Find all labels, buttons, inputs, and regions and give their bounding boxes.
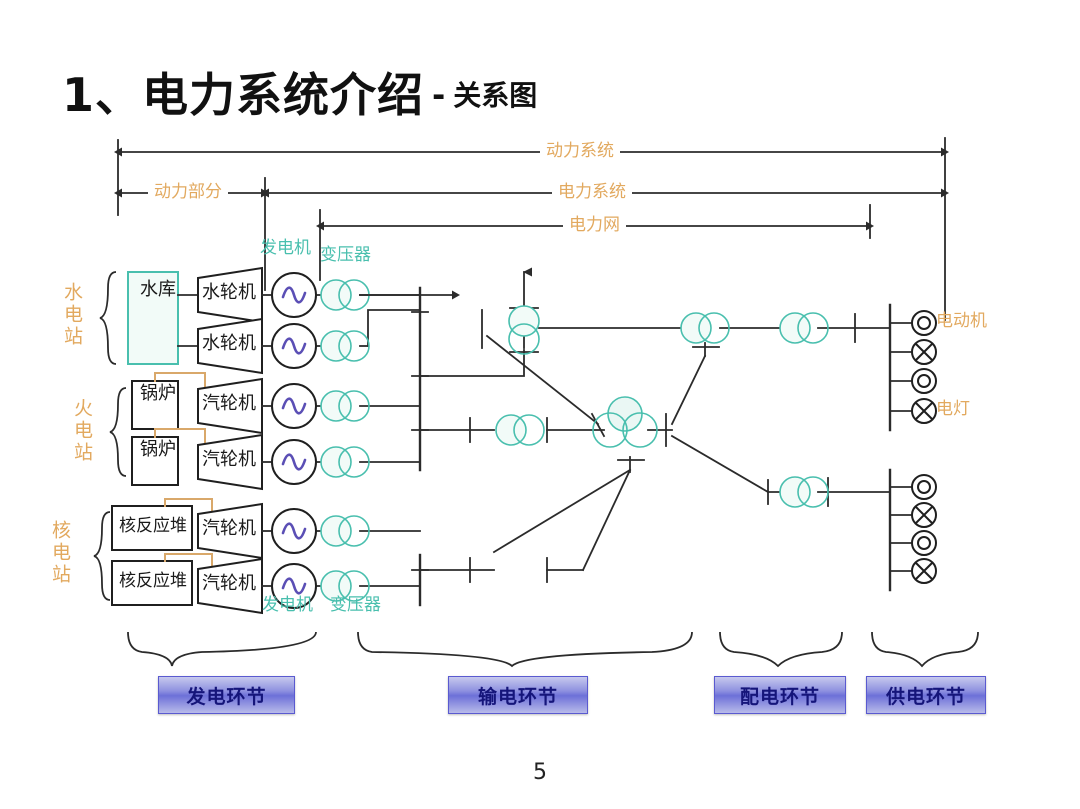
motor-3	[912, 475, 936, 499]
generator-4	[272, 440, 316, 484]
stage-label-distribution: 配电环节	[740, 682, 820, 709]
reactor-label-2: 核反应堆	[117, 573, 189, 591]
turbine-label-5: 汽轮机	[202, 520, 256, 539]
lamp-2	[912, 399, 936, 423]
generator-5	[272, 509, 316, 553]
brace-transmission	[358, 632, 692, 666]
stage-chip-distribution[interactable]: 配电环节	[714, 676, 846, 714]
turbine-label-6: 汽轮机	[202, 575, 256, 594]
scope-label-power-portion: 动力部分	[148, 184, 228, 201]
brace-hydro	[100, 272, 116, 364]
gen2-riser	[368, 310, 420, 346]
load-symbols	[912, 311, 936, 583]
stage-label-supply: 供电环节	[886, 682, 966, 709]
plant-label-thermal: 火电站	[72, 398, 91, 464]
turbine-label-2: 水轮机	[202, 335, 256, 354]
stage-label-transmission: 输电环节	[478, 682, 558, 709]
transformer-label-bottom: 变压器	[330, 597, 381, 614]
reservoir-label: 水库	[140, 281, 166, 300]
turbine-label-4: 汽轮机	[202, 451, 256, 470]
plant-label-nuclear: 核电站	[50, 520, 69, 586]
generator-3	[272, 384, 316, 428]
brace-supply	[872, 632, 978, 666]
generator-2	[272, 324, 316, 368]
brace-thermal	[110, 388, 126, 476]
turbine-label-3: 汽轮机	[202, 395, 256, 414]
tl-right-down	[672, 356, 705, 424]
transmission-transformer-b	[496, 415, 544, 445]
generator-symbols	[272, 273, 316, 608]
plant-label-hydro: 水电站	[62, 282, 81, 348]
boiler-label-1: 锅炉	[140, 385, 170, 404]
brace-generation	[128, 632, 316, 666]
turbine-label-1: 水轮机	[202, 284, 256, 303]
generator-1	[272, 273, 316, 317]
lamp-4	[912, 559, 936, 583]
tl-right-lower	[672, 436, 768, 492]
motor-2	[912, 369, 936, 393]
transformer-label-top: 变压器	[320, 247, 371, 264]
slide-root: 1、 电力系统介绍 - 关系图	[0, 0, 1080, 809]
boiler-label-2: 锅炉	[140, 441, 170, 460]
motor-1	[912, 311, 936, 335]
tl-diagonal-a	[487, 336, 598, 424]
brace-nuclear	[94, 512, 110, 600]
tl-diagonal-lower-left	[494, 470, 630, 552]
three-winding-transformer	[593, 397, 657, 447]
motor-label: 电动机	[936, 313, 987, 330]
generator-label-bottom: 发电机	[262, 597, 313, 614]
reactor-label-1: 核反应堆	[117, 518, 189, 536]
lamp-label: 电灯	[936, 401, 970, 418]
scope-label-electric-power-grid: 电力网	[563, 217, 626, 234]
stage-chip-generation[interactable]: 发电环节	[158, 676, 295, 714]
transmission-transformers	[496, 306, 828, 507]
stage-chip-supply[interactable]: 供电环节	[866, 676, 986, 714]
stage-label-generation: 发电环节	[186, 682, 266, 709]
brace-distribution	[720, 632, 842, 666]
scope-label-electric-power-system: 电力系统	[552, 184, 632, 201]
step-up-transformers	[321, 280, 369, 601]
lamp-3	[912, 503, 936, 527]
motor-4	[912, 531, 936, 555]
generator-label-top: 发电机	[260, 240, 311, 257]
scope-label-power-system: 动力系统	[540, 143, 620, 160]
lamp-1	[912, 340, 936, 364]
stage-braces	[128, 632, 978, 666]
stage-chip-transmission[interactable]: 输电环节	[448, 676, 588, 714]
page-number: 5	[0, 760, 1080, 785]
